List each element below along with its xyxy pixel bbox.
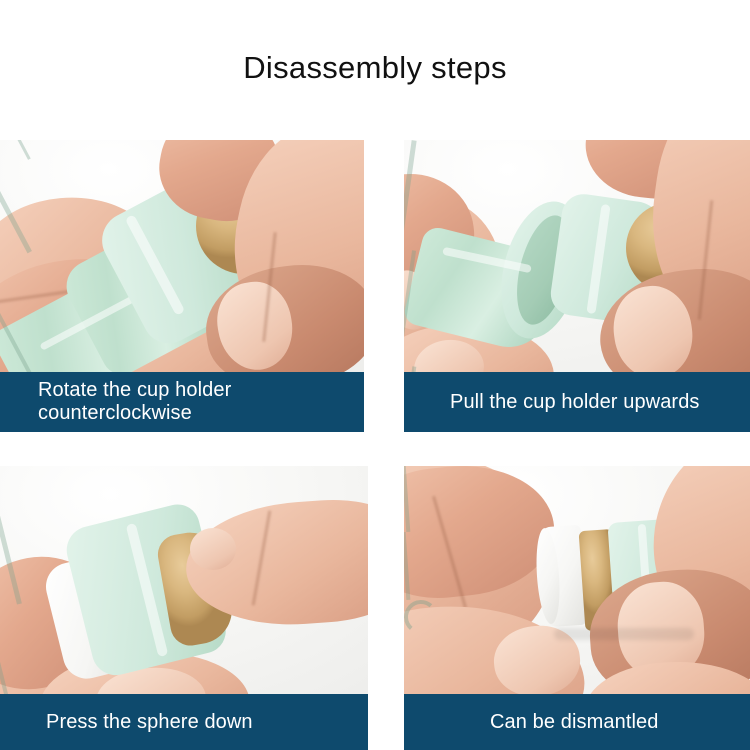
step-caption-3: Press the sphere down bbox=[0, 694, 368, 750]
step-caption-text-4: Can be dismantled bbox=[490, 711, 658, 734]
page-title: Disassembly steps bbox=[0, 48, 750, 88]
step-caption-4: Can be dismantled bbox=[404, 694, 750, 750]
step-caption-text-2: Pull the cup holder upwards bbox=[450, 391, 700, 414]
step-panel-1: Rotate the cup holder counterclockwise bbox=[0, 140, 364, 432]
step-panel-2: Pull the cup holder upwards bbox=[404, 140, 750, 432]
product-shadow bbox=[554, 628, 694, 640]
step-panel-3: Press the sphere down bbox=[0, 466, 368, 750]
step-caption-text-1: Rotate the cup holder counterclockwise bbox=[38, 379, 231, 425]
step-panel-4: Can be dismantled bbox=[404, 466, 750, 750]
step-caption-2: Pull the cup holder upwards bbox=[404, 372, 750, 432]
pressing-fingertip bbox=[190, 528, 236, 570]
disassembly-steps-page: Disassembly steps bbox=[0, 0, 750, 750]
step-caption-text-3: Press the sphere down bbox=[46, 711, 253, 734]
step-caption-1: Rotate the cup holder counterclockwise bbox=[0, 372, 364, 432]
